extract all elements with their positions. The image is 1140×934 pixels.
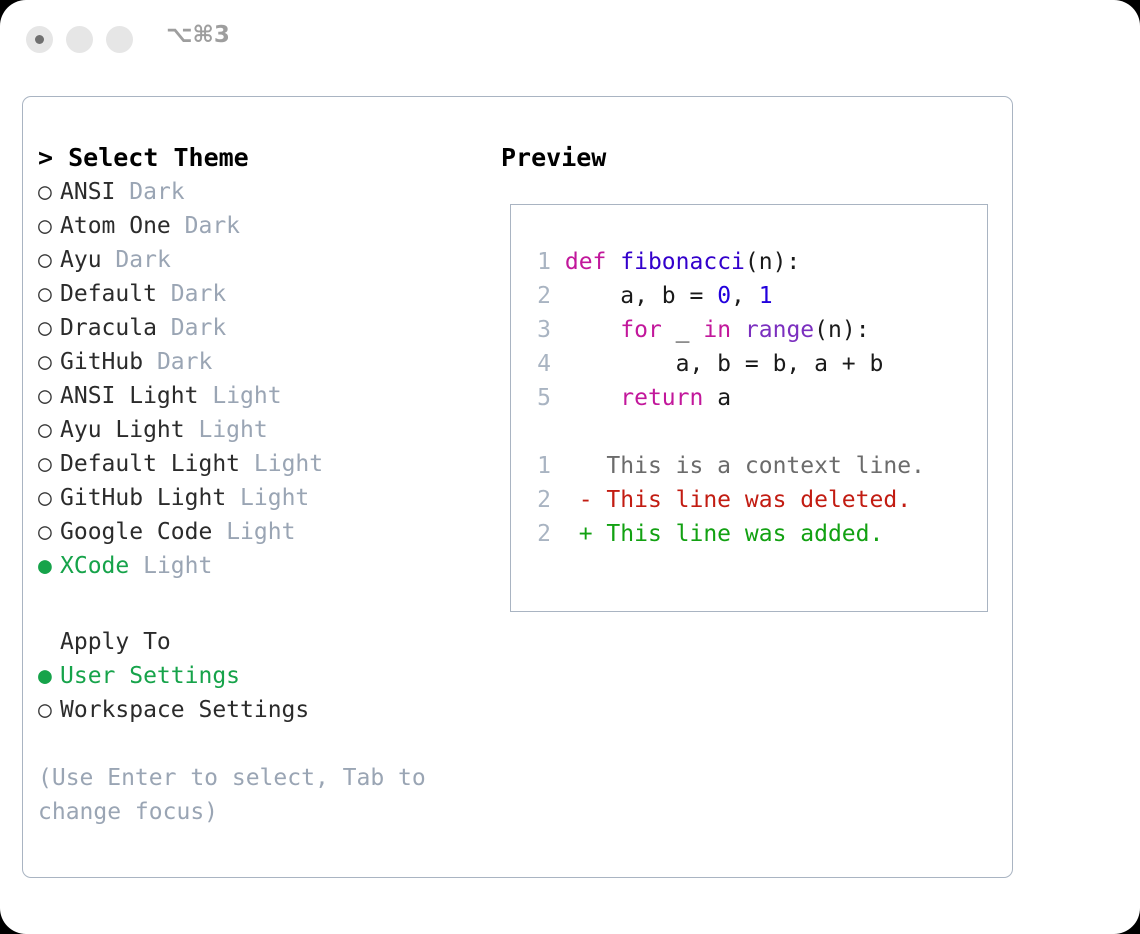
diff-marker	[579, 453, 607, 479]
window-minimize-button[interactable]	[66, 26, 93, 53]
spacer	[115, 179, 129, 205]
code-line-number: 3	[525, 313, 551, 347]
theme-list-item[interactable]: ○Atom One Dark	[38, 209, 478, 243]
theme-variant-tag: Light	[143, 553, 212, 579]
code-token: fibonacci	[620, 249, 745, 275]
code-line: 3 for _ in range(n):	[525, 313, 979, 347]
preview-column: Preview	[501, 141, 1001, 175]
spacer	[240, 451, 254, 477]
theme-list-item[interactable]: ○GitHub Light Light	[38, 481, 478, 515]
code-line-number: 2	[525, 279, 551, 313]
spacer	[157, 281, 171, 307]
radio-unselected-icon: ○	[38, 481, 60, 515]
spacer	[551, 453, 579, 479]
theme-list-item[interactable]: ○ANSI Dark	[38, 175, 478, 209]
code-line-number: 1	[525, 245, 551, 279]
title-bar: ⌥⌘3	[0, 0, 1140, 78]
theme-name-label: Ayu	[60, 247, 102, 273]
theme-variant-tag: Light	[212, 383, 281, 409]
spacer	[551, 317, 565, 343]
code-token: a, b =	[565, 283, 717, 309]
theme-list-item[interactable]: ○Default Dark	[38, 277, 478, 311]
code-token: return	[620, 385, 703, 411]
theme-list-header: > Select Theme	[38, 141, 478, 175]
code-line: 1 def fibonacci(n):	[525, 245, 979, 279]
theme-list-item[interactable]: ○ANSI Light Light	[38, 379, 478, 413]
radio-unselected-icon: ○	[38, 693, 60, 727]
theme-name-label: GitHub Light	[60, 485, 226, 511]
theme-list-item[interactable]: ○GitHub Dark	[38, 345, 478, 379]
apply-to-option[interactable]: ○Workspace Settings	[38, 693, 478, 727]
apply-to-header: Apply To	[38, 625, 478, 659]
code-token: for	[620, 317, 662, 343]
code-line-number: 4	[525, 347, 551, 381]
spacer	[198, 383, 212, 409]
apply-to-section: Apply To ●User Settings○Workspace Settin…	[38, 625, 478, 727]
theme-list-item[interactable]: ○Ayu Light Light	[38, 413, 478, 447]
spacer	[143, 349, 157, 375]
diff-marker: +	[579, 521, 607, 547]
theme-list-item[interactable]: ○Default Light Light	[38, 447, 478, 481]
theme-name-label: Ayu Light	[60, 417, 185, 443]
theme-list-item[interactable]: ●XCode Light	[38, 549, 478, 583]
theme-variant-tag: Dark	[171, 315, 226, 341]
theme-variant-tag: Dark	[185, 213, 240, 239]
radio-unselected-icon: ○	[38, 277, 60, 311]
keyboard-shortcut-label: ⌥⌘3	[166, 22, 230, 48]
diff-line-number: 2	[525, 483, 551, 517]
code-token: 1	[759, 283, 773, 309]
theme-variant-tag: Dark	[129, 179, 184, 205]
apply-to-option[interactable]: ●User Settings	[38, 659, 478, 693]
theme-name-label: Google Code	[60, 519, 212, 545]
diff-text: This is a context line.	[606, 453, 925, 479]
theme-list-item[interactable]: ○Google Code Light	[38, 515, 478, 549]
radio-selected-icon: ●	[38, 549, 60, 583]
window-maximize-button[interactable]	[106, 26, 133, 53]
diff-line: 2 - This line was deleted.	[525, 483, 979, 517]
theme-name-label: Default Light	[60, 451, 240, 477]
code-token: 0	[717, 283, 731, 309]
theme-name-label: Atom One	[60, 213, 171, 239]
code-token: a, b = b, a + b	[565, 351, 884, 377]
theme-variant-tag: Dark	[115, 247, 170, 273]
spacer	[551, 351, 565, 377]
theme-variant-tag: Dark	[157, 349, 212, 375]
spacer	[551, 283, 565, 309]
window-close-indicator-icon	[35, 35, 44, 44]
code-token: (n):	[814, 317, 869, 343]
diff-marker: -	[579, 487, 607, 513]
code-token: (n):	[745, 249, 800, 275]
code-token: in	[703, 317, 731, 343]
spacer	[212, 519, 226, 545]
radio-unselected-icon: ○	[38, 447, 60, 481]
radio-unselected-icon: ○	[38, 515, 60, 549]
code-token: a	[703, 385, 731, 411]
spacer	[129, 553, 143, 579]
code-token: range	[745, 317, 814, 343]
theme-list: ○ANSI Dark○Atom One Dark○Ayu Dark○Defaul…	[38, 175, 478, 583]
spacer	[102, 247, 116, 273]
apply-to-option-label: Workspace Settings	[60, 697, 309, 723]
spacer	[551, 521, 579, 547]
radio-selected-icon: ●	[38, 659, 60, 693]
code-token	[565, 385, 620, 411]
theme-name-label: ANSI Light	[60, 383, 198, 409]
diff-line-number: 2	[525, 517, 551, 551]
preview-diff-sample: 1 This is a context line.2 - This line w…	[525, 449, 979, 551]
theme-name-label: ANSI	[60, 179, 115, 205]
radio-unselected-icon: ○	[38, 311, 60, 345]
radio-unselected-icon: ○	[38, 175, 60, 209]
spacer	[551, 487, 579, 513]
spacer	[551, 249, 565, 275]
diff-text: This line was deleted.	[606, 487, 911, 513]
code-token: _	[662, 317, 704, 343]
radio-unselected-icon: ○	[38, 379, 60, 413]
theme-variant-tag: Dark	[171, 281, 226, 307]
diff-text: This line was added.	[606, 521, 883, 547]
theme-list-item[interactable]: ○Dracula Dark	[38, 311, 478, 345]
theme-variant-tag: Light	[240, 485, 309, 511]
code-token	[606, 249, 620, 275]
apply-to-options: ●User Settings○Workspace Settings	[38, 659, 478, 727]
code-token: ,	[731, 283, 759, 309]
spacer	[157, 315, 171, 341]
spacer	[171, 213, 185, 239]
preview-header: Preview	[501, 141, 1001, 175]
radio-unselected-icon: ○	[38, 243, 60, 277]
theme-name-label: XCode	[60, 553, 129, 579]
theme-variant-tag: Light	[254, 451, 323, 477]
code-token	[731, 317, 745, 343]
app-window: ⌥⌘3 > Select Theme ○ANSI Dark○Atom One D…	[0, 0, 1140, 934]
code-line: 5 return a	[525, 381, 979, 415]
preview-code-sample: 1 def fibonacci(n):2 a, b = 0, 13 for _ …	[525, 245, 979, 415]
code-line-number: 5	[525, 381, 551, 415]
theme-name-label: Dracula	[60, 315, 157, 341]
code-token: def	[565, 249, 607, 275]
radio-unselected-icon: ○	[38, 209, 60, 243]
code-line: 2 a, b = 0, 1	[525, 279, 979, 313]
code-token	[565, 317, 620, 343]
spacer	[551, 385, 565, 411]
diff-line-number: 1	[525, 449, 551, 483]
radio-unselected-icon: ○	[38, 413, 60, 447]
preview-code-box: 1 def fibonacci(n):2 a, b = 0, 13 for _ …	[510, 204, 988, 612]
apply-to-option-label: User Settings	[60, 663, 240, 689]
diff-line: 2 + This line was added.	[525, 517, 979, 551]
spacer	[226, 485, 240, 511]
code-line: 4 a, b = b, a + b	[525, 347, 979, 381]
theme-list-column: > Select Theme ○ANSI Dark○Atom One Dark○…	[38, 141, 478, 583]
theme-variant-tag: Light	[226, 519, 295, 545]
main-panel: > Select Theme ○ANSI Dark○Atom One Dark○…	[22, 96, 1013, 878]
theme-list-item[interactable]: ○Ayu Dark	[38, 243, 478, 277]
radio-unselected-icon: ○	[38, 345, 60, 379]
theme-name-label: GitHub	[60, 349, 143, 375]
spacer	[185, 417, 199, 443]
theme-name-label: Default	[60, 281, 157, 307]
diff-line: 1 This is a context line.	[525, 449, 979, 483]
theme-variant-tag: Light	[198, 417, 267, 443]
keyboard-hint-text: (Use Enter to select, Tab to change focu…	[38, 761, 458, 829]
